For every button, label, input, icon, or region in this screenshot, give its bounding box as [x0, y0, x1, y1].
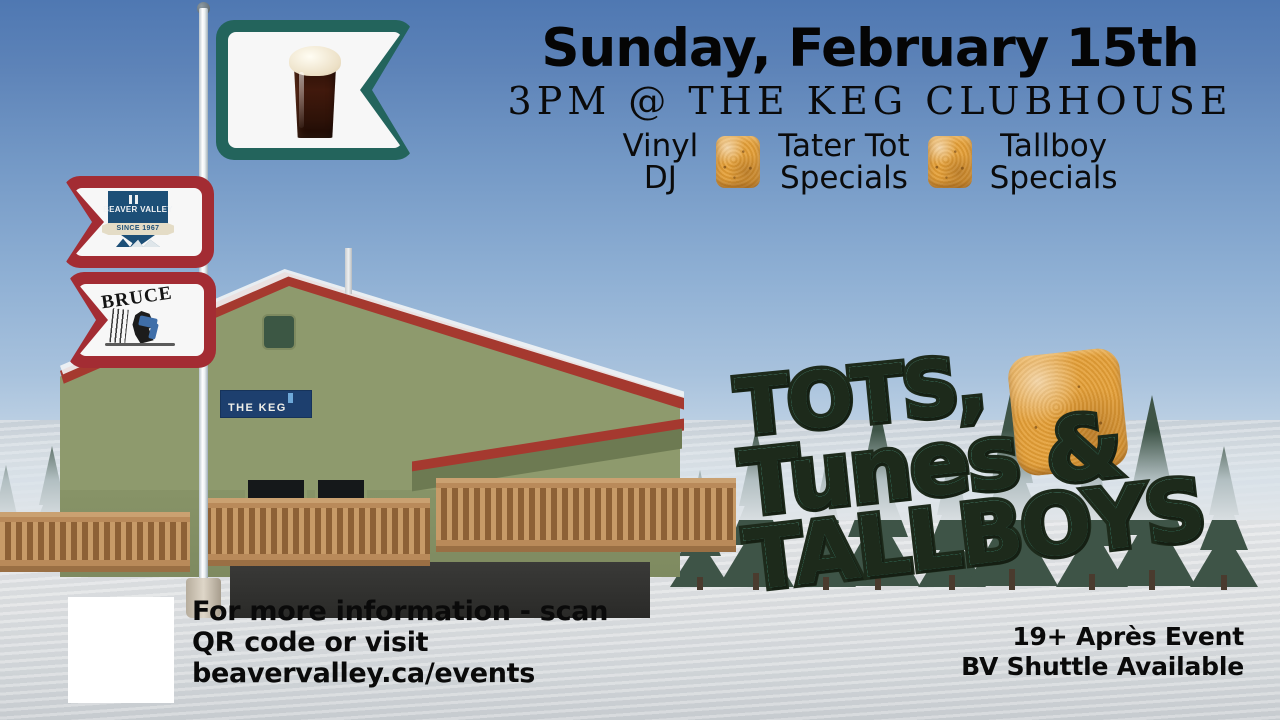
flag-bruce: BRUCE — [66, 272, 216, 368]
more-information-text: For more information - scan QR code or v… — [192, 597, 608, 689]
feature-label-tallboy-specials: Tallboy Specials — [990, 130, 1118, 195]
tater-tot-icon — [928, 136, 972, 188]
feature-label-vinyl-dj: Vinyl DJ — [622, 130, 698, 195]
event-time-venue: 3PM @ THE KEG CLUBHOUSE — [470, 82, 1270, 122]
the-keg-sign-label: THE KEG — [228, 403, 287, 414]
flag-beaver-valley: BEAVER VALLEY SINCE 1967 — [62, 176, 214, 268]
beaver-valley-since-label: SINCE 1967 — [102, 223, 174, 235]
gable-vent — [262, 314, 296, 350]
beaver-valley-logo: BEAVER VALLEY SINCE 1967 — [102, 191, 174, 253]
the-keg-sign: THE KEG — [220, 390, 312, 418]
qr-code[interactable] — [68, 597, 174, 703]
flag-beer — [216, 20, 414, 160]
header-text-block: Sunday, February 15th 3PM @ THE KEG CLUB… — [470, 22, 1270, 195]
event-notes-text: 19+ Après Event BV Shuttle Available — [961, 622, 1244, 681]
deck-railing — [0, 494, 720, 580]
tater-tot-icon — [716, 136, 760, 188]
beaver-valley-logo-name: BEAVER VALLEY — [102, 205, 174, 214]
feature-row: Vinyl DJ Tater Tot Specials Tallboy Spec… — [470, 130, 1270, 195]
bruce-logo: BRUCE — [95, 289, 187, 351]
event-title: TOTS, Tunes & TALLBOYS — [733, 326, 1225, 598]
pint-glass-icon — [287, 42, 343, 138]
event-date-headline: Sunday, February 15th — [470, 22, 1270, 76]
feature-label-tater-tot-specials: Tater Tot Specials — [778, 130, 909, 195]
event-poster: THE KEG BEAVER VALLE — [0, 0, 1280, 720]
skis-icon — [109, 308, 128, 343]
